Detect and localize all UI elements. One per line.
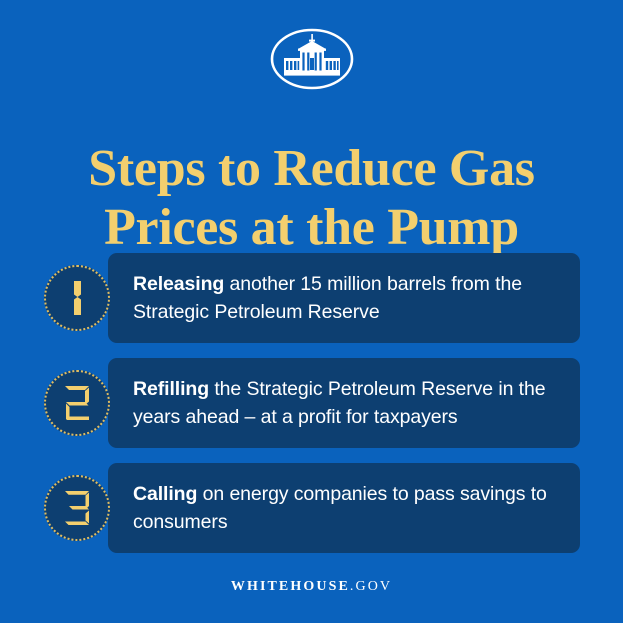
title-line-1: Steps to Reduce Gas [30, 139, 593, 198]
steps-list: Releasing another 15 million barrels fro… [0, 253, 623, 568]
title-line-2: Prices at the Pump [30, 198, 593, 257]
step-card-2: Refilling the Strategic Petroleum Reserv… [108, 358, 580, 448]
logo-container [0, 26, 623, 92]
step-lead-1: Releasing [133, 273, 224, 295]
list-item: Releasing another 15 million barrels fro… [0, 253, 623, 343]
digit-one-icon [64, 279, 90, 317]
digit-two-icon [62, 384, 92, 422]
footer-domain-main: WHITEHOUSE [231, 579, 350, 594]
white-house-seal-icon [270, 28, 354, 90]
list-item: Calling on energy companies to pass savi… [0, 463, 623, 553]
footer-domain: WHITEHOUSE.GOV [0, 579, 623, 595]
digit-three-icon [62, 489, 92, 527]
step-lead-3: Calling [133, 483, 197, 505]
page-title: Steps to Reduce Gas Prices at the Pump [0, 139, 623, 257]
step-card-1: Releasing another 15 million barrels fro… [108, 253, 580, 343]
step-lead-2: Refilling [133, 378, 209, 400]
step-number-badge-3 [44, 475, 110, 541]
step-number-badge-2 [44, 370, 110, 436]
infographic-poster: Steps to Reduce Gas Prices at the Pump R… [0, 0, 623, 623]
list-item: Refilling the Strategic Petroleum Reserv… [0, 358, 623, 448]
step-number-badge-1 [44, 265, 110, 331]
step-card-3: Calling on energy companies to pass savi… [108, 463, 580, 553]
footer-domain-tld: .GOV [350, 579, 392, 594]
